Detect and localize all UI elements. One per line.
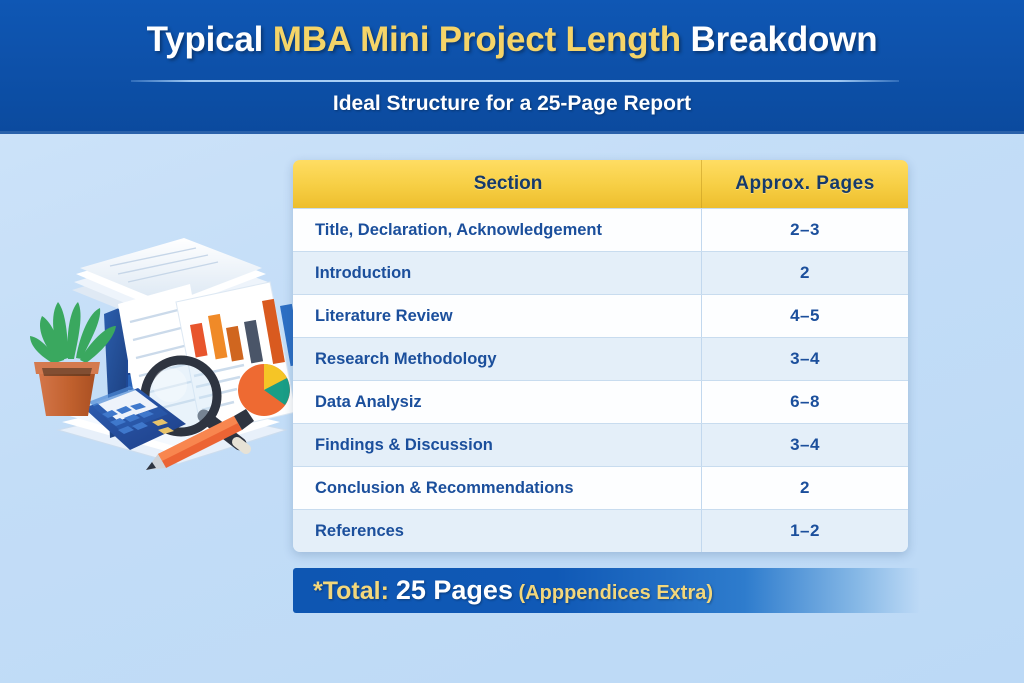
cell-pages: 2 [702,467,908,509]
cell-section: Data Analysiz [293,381,702,423]
sections-table: Section Approx. Pages Title, Declaration… [293,160,908,552]
cell-pages: 2 [702,252,908,294]
column-header-pages: Approx. Pages [702,160,908,208]
page-subtitle: Ideal Structure for a 25-Page Report [0,92,1024,116]
cell-pages: 2–3 [702,209,908,251]
table-row[interactable]: Literature Review 4–5 [293,294,908,337]
column-header-section: Section [293,160,702,208]
table-row[interactable]: References 1–2 [293,509,908,552]
table-row[interactable]: Conclusion & Recommendations 2 [293,466,908,509]
cell-section: Findings & Discussion [293,424,702,466]
total-note-label: (Apppendices Extra) [513,582,713,604]
office-desk-report-illustration [18,218,308,486]
cell-pages: 1–2 [702,510,908,552]
page-title-part-3: Breakdown [681,20,877,59]
table-row[interactable]: Introduction 2 [293,251,908,294]
pie-chart-icon [238,364,290,416]
cell-pages: 6–8 [702,381,908,423]
table-row[interactable]: Data Analysiz 6–8 [293,380,908,423]
cell-section: Title, Declaration, Acknowledgement [293,209,702,251]
title-divider [131,80,899,82]
table-header-row: Section Approx. Pages [293,160,908,208]
total-star-label: *Total: [313,577,396,605]
page-title: Typical MBA Mini Project Length Breakdow… [0,16,1024,64]
cell-section: Conclusion & Recommendations [293,467,702,509]
table-row[interactable]: Title, Declaration, Acknowledgement 2–3 [293,208,908,251]
header-band: Typical MBA Mini Project Length Breakdow… [0,0,1024,134]
cell-pages: 4–5 [702,295,908,337]
cell-section: Introduction [293,252,702,294]
plant-leaves [30,302,116,364]
cell-section: Literature Review [293,295,702,337]
table-row[interactable]: Research Methodology 3–4 [293,337,908,380]
cell-pages: 3–4 [702,338,908,380]
total-text: *Total: 25 Pages (Apppendices Extra) [293,575,713,606]
cell-section: Research Methodology [293,338,702,380]
total-banner: *Total: 25 Pages (Apppendices Extra) [293,568,920,613]
cell-pages: 3–4 [702,424,908,466]
total-pages-label: 25 Pages [396,575,513,605]
infographic-canvas: Typical MBA Mini Project Length Breakdow… [0,0,1024,683]
page-title-part-1: Typical [147,20,273,59]
page-title-part-2: MBA Mini Project Length [273,20,681,59]
cell-section: References [293,510,702,552]
table-row[interactable]: Findings & Discussion 3–4 [293,423,908,466]
